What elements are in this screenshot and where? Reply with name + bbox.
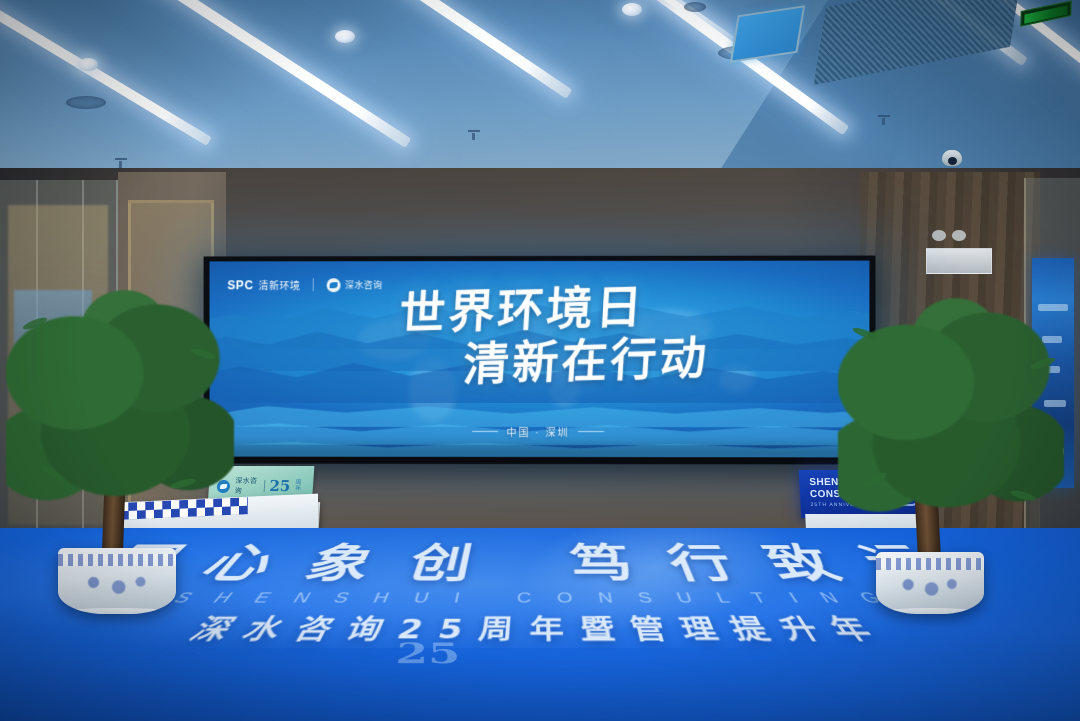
- led-video-wall[interactable]: SPC 清新环境 深水咨询 世界环境日 清新在行动 中国 · 深圳: [204, 256, 876, 465]
- linear-led-strip: [318, 0, 573, 99]
- ceiling: [0, 0, 1080, 190]
- linear-led-strip: [0, 0, 212, 146]
- recessed-spotlight: [622, 3, 642, 16]
- recessed-spotlight: [78, 58, 98, 71]
- screen-location-row: 中国 · 深圳: [210, 424, 870, 440]
- tree-canopy: [6, 288, 234, 538]
- logo-divider: [313, 278, 314, 291]
- porcelain-pot: [58, 548, 176, 614]
- porcelain-pot: [876, 552, 984, 614]
- wall-plaque: [926, 248, 992, 274]
- shenshui-logo-text: 深水咨询: [345, 278, 382, 291]
- security-camera: [942, 150, 962, 166]
- podium-left-brand: 深水咨询: [234, 476, 259, 496]
- floor-pinyin-right: CONSULTING: [516, 590, 911, 606]
- linear-led-strip: [129, 0, 412, 148]
- wall-fixture-dots: [932, 228, 984, 242]
- spc-logo-text: 清新环境: [259, 277, 301, 292]
- ceiling-smoke-detector: [684, 2, 706, 12]
- sprinkler-head: [468, 130, 480, 139]
- ceiling-air-diffuser: [66, 96, 106, 109]
- screen-logo-row: SPC 清新环境 深水咨询: [227, 277, 382, 292]
- rule-left: [472, 431, 498, 432]
- led-screen-surface: SPC 清新环境 深水咨询 世界环境日 清新在行动 中国 · 深圳: [210, 261, 870, 458]
- divider: [263, 480, 265, 492]
- podium-left-anniversary-number: 25: [269, 477, 291, 495]
- sprinkler-head: [115, 158, 127, 167]
- floor-sub-text: 深水咨询25周年暨管理提升年: [0, 614, 1080, 648]
- lobby-photo-scene: SPC 清新环境 深水咨询 世界环境日 清新在行动 中国 · 深圳: [0, 0, 1080, 721]
- spc-logo: SPC 清新环境: [227, 277, 300, 292]
- floor-anniversary-number: 25: [394, 637, 462, 670]
- recessed-spotlight: [335, 30, 355, 43]
- shenshui-logo-icon: [327, 278, 341, 292]
- shenshui-logo: 深水咨询: [327, 278, 382, 292]
- sprinkler-head: [878, 115, 890, 124]
- screen-location-label: 中国 · 深圳: [507, 424, 570, 439]
- podium-left-anniversary-label: 周年: [295, 480, 306, 492]
- rule-right: [578, 431, 604, 432]
- floor-pinyin-left: SHENSHUI: [169, 590, 487, 606]
